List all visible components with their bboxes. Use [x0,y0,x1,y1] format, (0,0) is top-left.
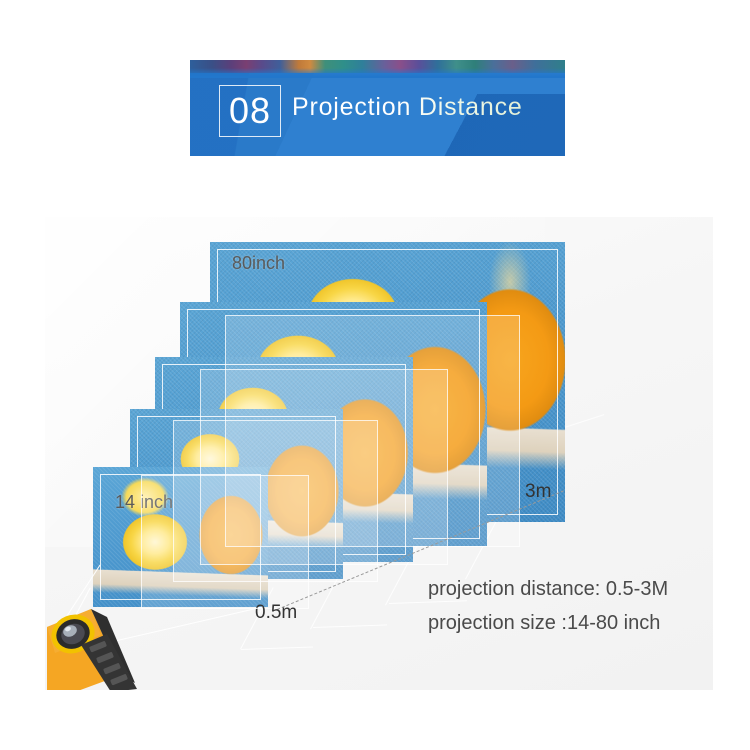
projection-illustration: 80inch 14 inch 0.5m 3m projection distan… [45,217,713,690]
spec-line-distance: projection distance: 0.5-3M [428,572,668,606]
distance-label-near: 0.5m [255,602,297,624]
projector-device [45,597,165,690]
section-title: Projection Distance [292,93,523,122]
banner-photo-fade [190,68,565,78]
projection-screen-14inch [93,467,268,607]
section-number: 08 [229,93,271,129]
section-number-box: 08 [219,85,281,137]
spec-text-block: projection distance: 0.5-3M projection s… [428,572,668,640]
screen-label-14inch: 14 inch [115,492,173,513]
section-header-banner: 08 Projection Distance [190,60,565,156]
spec-line-size: projection size :14-80 inch [428,606,668,640]
screen-label-80inch: 80inch [232,253,285,274]
distance-label-far: 3m [525,481,551,503]
